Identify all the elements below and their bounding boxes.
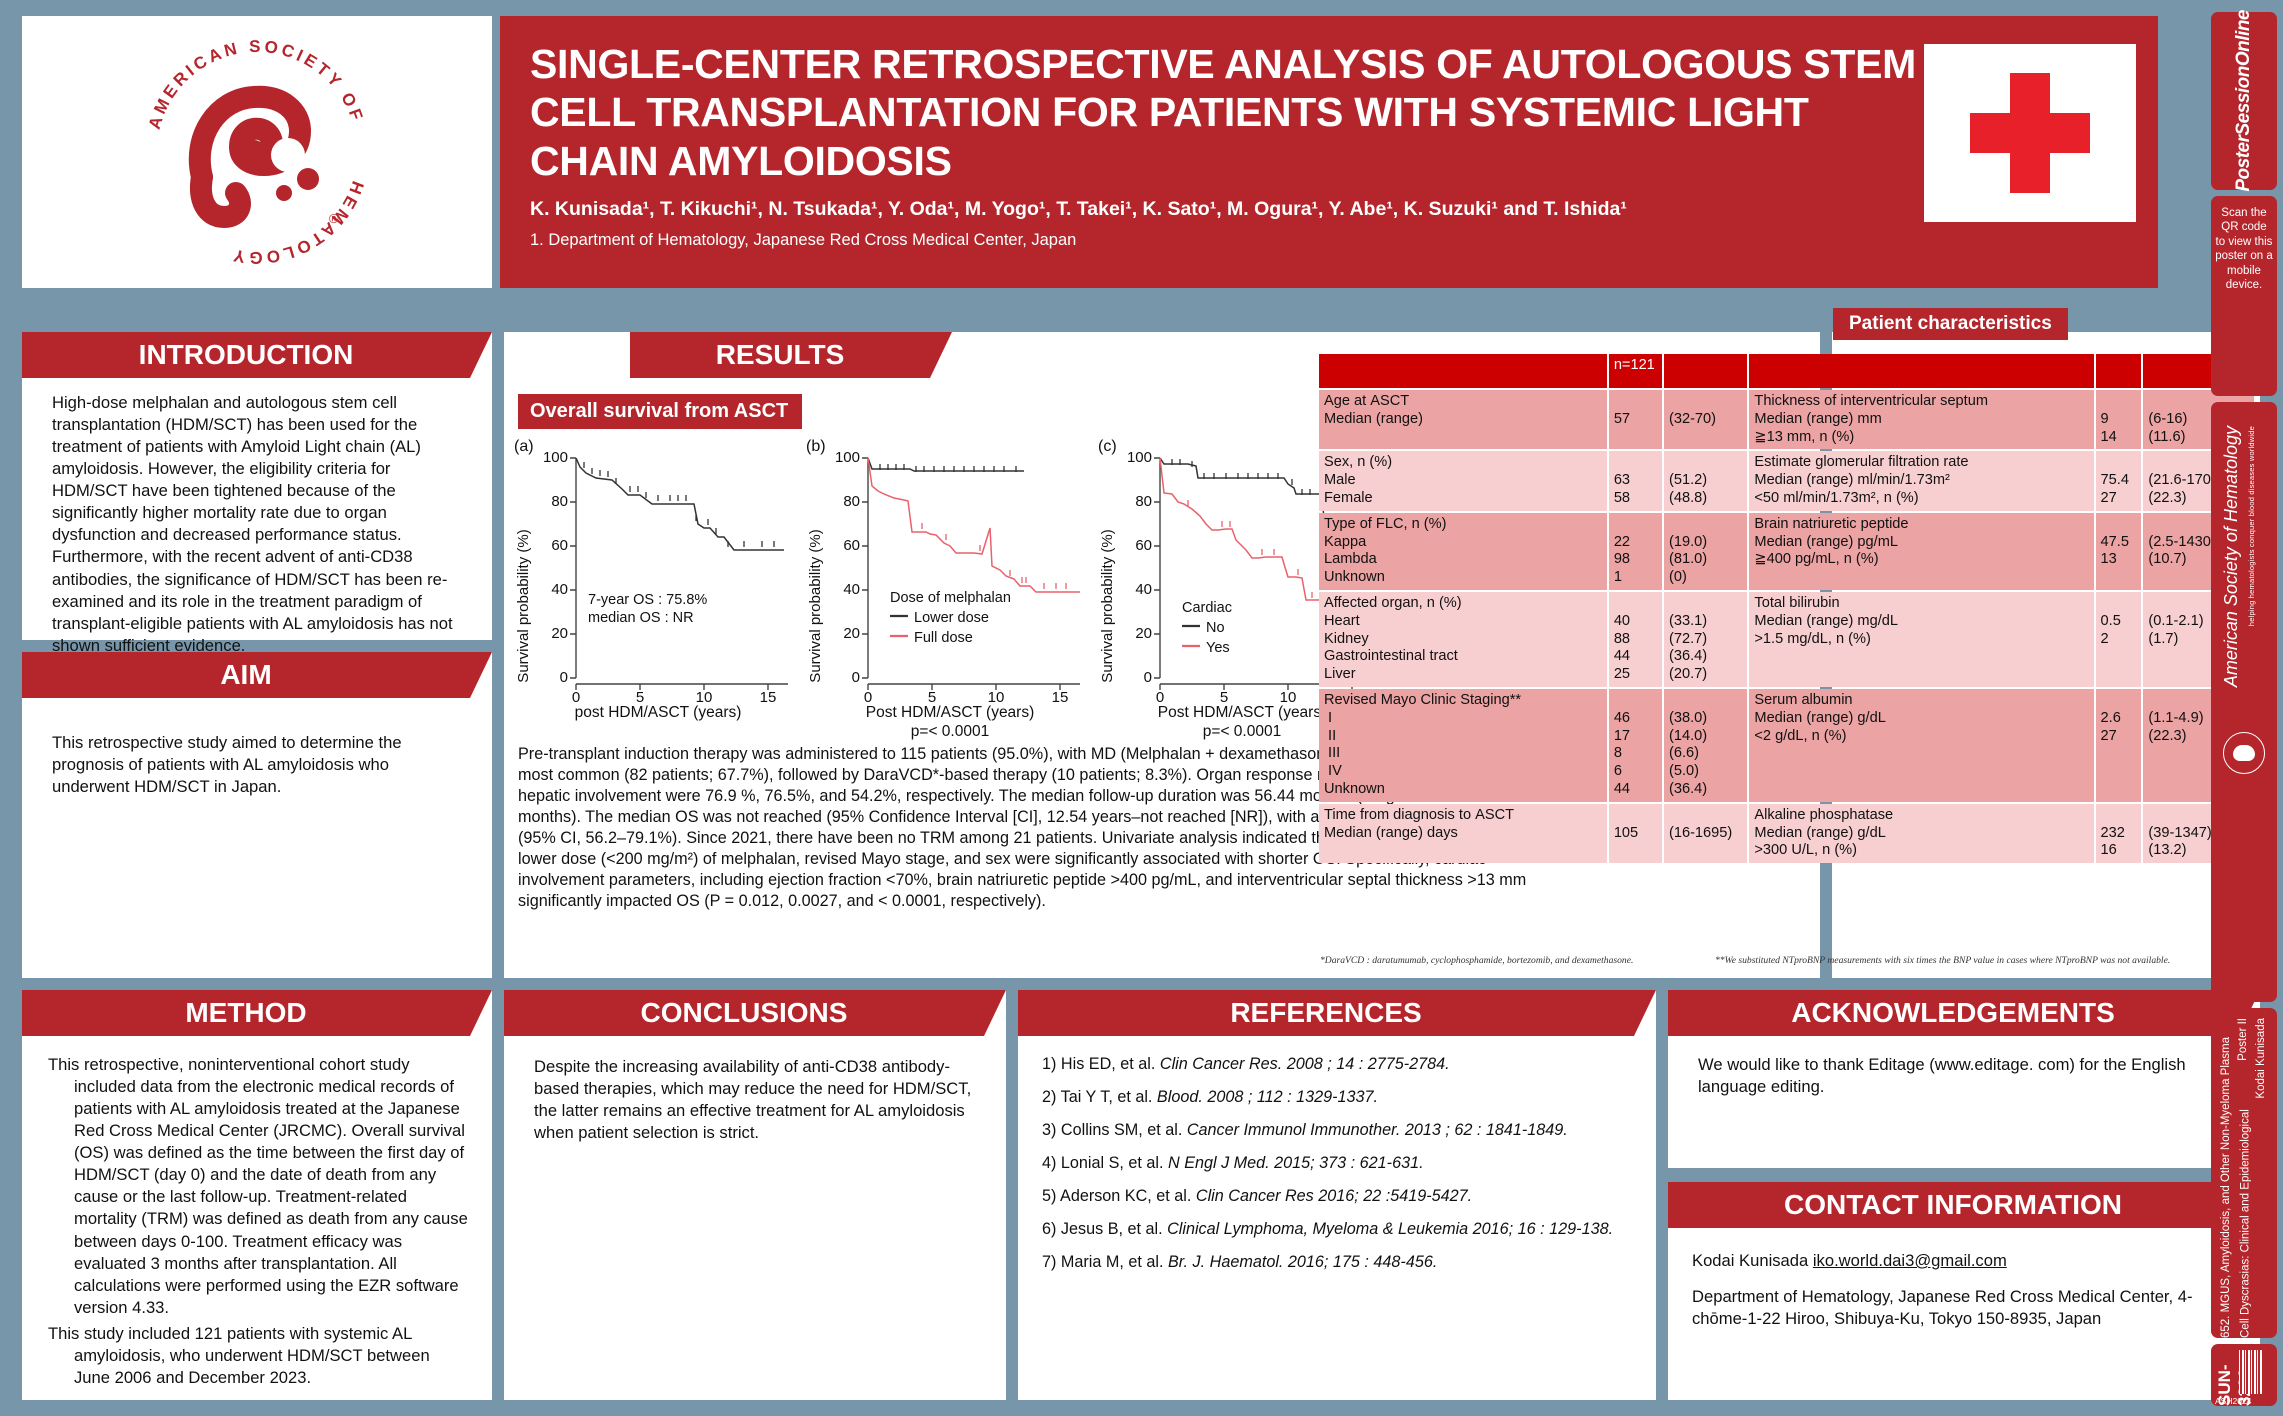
table-cell-value: 105 — [1609, 804, 1662, 863]
red-cross-logo-box — [1924, 44, 2136, 222]
reference-number: 4) — [1042, 1154, 1056, 1172]
ash-logo-svg: AMERICAN SOCIETY OF HEMATOLOGY ® — [132, 27, 382, 277]
reference-number: 2) — [1042, 1088, 1056, 1106]
table-cell-value: 40884425 — [1609, 592, 1662, 687]
chart-a-annotation-2: median OS : NR — [588, 610, 694, 626]
table-cell-label: Estimate glomerular filtration rateMedia… — [1749, 451, 2093, 510]
page-title: SINGLE-CENTER RETROSPECTIVE ANALYSIS OF … — [530, 40, 1930, 185]
table-cell-value: 0.52 — [2096, 592, 2142, 687]
title-bar: SINGLE-CENTER RETROSPECTIVE ANALYSIS OF … — [500, 16, 2158, 288]
table-cell-percent: (19.0)(81.0)(0) — [1664, 513, 1747, 590]
chart-b-xlabel: Post HDM/ASCT (years) — [804, 704, 1096, 722]
patient-characteristics-table: n=121 Age at ASCTMedian (range) 57 (32-7… — [1317, 352, 2256, 865]
red-cross-icon — [1970, 73, 2090, 193]
table-cell-label: Brain natriuretic peptideMedian (range) … — [1749, 513, 2093, 590]
session-title: 652. MGUS, Amyloidosis, and Other Non-My… — [2217, 1018, 2256, 1338]
km-chart-b: (b) Survival probability (%) 100 80 60 4… — [804, 436, 1096, 736]
poster-session-online-brand: PosterSessionOnline — [2233, 10, 2255, 192]
ash-society-logo: AMERICAN SOCIETY OF HEMATOLOGY ® — [132, 27, 382, 277]
table-cell-label: Total bilirubinMedian (range) mg/dL>1.5 … — [1749, 592, 2093, 687]
chart-a-xlabel: post HDM/ASCT (years) — [512, 704, 804, 722]
chart-c-panel-letter: (c) — [1098, 438, 1117, 456]
acknowledgements-text: We would like to thank Editage (www.edit… — [1668, 1036, 2260, 1108]
reference-item: 4) Lonial S, et al. N Engl J Med. 2015; … — [1042, 1153, 1634, 1174]
affiliation: 1. Department of Hematology, Japanese Re… — [530, 231, 2128, 250]
reference-citation: Br. J. Haematol. 2016; 175 : 448-456. — [1168, 1253, 1437, 1271]
chart-a-ytick-80: 80 — [551, 493, 568, 510]
table-cell-value: 57 — [1609, 390, 1662, 449]
poster-session-online-logo: PosterSessionOnline — [2211, 12, 2277, 190]
chart-a-ytick-20: 20 — [551, 625, 568, 642]
author-list: K. Kunisada¹, T. Kikuchi¹, N. Tsukada¹, … — [530, 197, 2128, 222]
chart-c-ytick-20: 20 — [1135, 625, 1152, 642]
svg-text:®: ® — [329, 211, 339, 226]
contact-name: Kodai Kunisada — [1692, 1251, 1813, 1270]
chart-b-legend-title: Dose of melphalan — [890, 590, 1011, 606]
reference-item: 3) Collins SM, et al. Cancer Immunol Imm… — [1042, 1120, 1634, 1141]
ash-society-name: American Society of Hematology — [2221, 426, 2242, 687]
table-row: Sex, n (%)MaleFemale 6358 (51.2)(48.8)Es… — [1319, 451, 2254, 510]
table-cell-value: 914 — [2096, 390, 2142, 449]
reference-authors: Jesus B, et al. — [1061, 1220, 1163, 1238]
table-cell-label: Time from diagnosis to ASCTMedian (range… — [1319, 804, 1607, 863]
chart-b-ytick-40: 40 — [843, 581, 860, 598]
right-sidebar: PosterSessionOnline Scan the QR code to … — [2211, 8, 2277, 1408]
aim-text: This retrospective study aimed to determ… — [22, 698, 492, 808]
table-cell-percent: (33.1)(72.7)(36.4)(20.7) — [1664, 592, 1747, 687]
chart-c-legend-yes: Yes — [1206, 640, 1230, 656]
chart-a-panel-letter: (a) — [514, 438, 534, 456]
references-panel: REFERENCES 1) His ED, et al. Clin Cancer… — [1018, 990, 1656, 1400]
contact-panel: CONTACT INFORMATION Kodai Kunisada iko.w… — [1668, 1182, 2260, 1400]
table-cell-label: Age at ASCTMedian (range) — [1319, 390, 1607, 449]
reference-citation: Clin Cancer Res 2016; 22 :5419-5427. — [1196, 1187, 1472, 1205]
chart-c-ylabel: Survival probability (%) — [1099, 529, 1116, 682]
table-cell-label: Serum albuminMedian (range) g/dL<2 g/dL,… — [1749, 689, 2093, 802]
reference-authors: His ED, et al. — [1061, 1055, 1155, 1073]
chart-c-ytick-80: 80 — [1135, 493, 1152, 510]
reference-authors: Maria M, et al. — [1061, 1253, 1164, 1271]
conclusions-panel: CONCLUSIONS Despite the increasing avail… — [504, 990, 1006, 1400]
reference-number: 6) — [1042, 1220, 1056, 1238]
references-heading: REFERENCES — [1018, 990, 1634, 1036]
chart-a-annotation-1: 7-year OS : 75.8% — [588, 592, 707, 608]
chart-a-ytick-40: 40 — [551, 581, 568, 598]
reference-authors: Tai Y T, et al. — [1061, 1088, 1153, 1106]
reference-authors: Aderson KC, et al. — [1060, 1187, 1191, 1205]
reference-citation: Clin Cancer Res. 2008 ; 14 : 2775-2784. — [1160, 1055, 1450, 1073]
results-heading: RESULTS — [630, 332, 930, 378]
chart-b-legend-lower-dose: Lower dose — [914, 610, 989, 626]
poster-session-online-card[interactable]: PosterSessionOnline — [2211, 12, 2277, 190]
table-cell-percent: (38.0)(14.0)(6.6)(5.0)(36.4) — [1664, 689, 1747, 802]
chart-c-legend-title: Cardiac — [1182, 600, 1232, 616]
chart-a-ylabel: Survival probability (%) — [515, 529, 532, 682]
contact-body: Kodai Kunisada iko.world.dai3@gmail.com … — [1668, 1228, 2260, 1330]
contact-address: Department of Hematology, Japanese Red C… — [1692, 1286, 2236, 1330]
barcode-image — [2239, 1350, 2263, 1394]
abstract-code-card: SUN-3292 ASH2024 — [2211, 1344, 2277, 1406]
chart-b-ytick-20: 20 — [843, 625, 860, 642]
reference-item: 2) Tai Y T, et al. Blood. 2008 ; 112 : 1… — [1042, 1087, 1634, 1108]
table-cell-value: 2.627 — [2096, 689, 2142, 802]
table-row: Revised Mayo Clinic Staging** I II III I… — [1319, 689, 2254, 802]
scan-qr-card: Scan the QR code to view this poster on … — [2211, 196, 2277, 396]
km-chart-a: (a) Survival probability (%) 100 80 60 4… — [512, 436, 804, 736]
method-text: This retrospective, noninterventional co… — [22, 1036, 492, 1399]
reference-number: 1) — [1042, 1055, 1056, 1073]
ash-logo-box: AMERICAN SOCIETY OF HEMATOLOGY ® — [22, 16, 492, 288]
chart-c-ytick-100: 100 — [1127, 449, 1152, 466]
aim-panel: AIM This retrospective study aimed to de… — [22, 652, 492, 978]
table-cell-value: 46178644 — [1609, 689, 1662, 802]
chart-a-ytick-100: 100 — [543, 449, 568, 466]
chart-a-series-overall — [576, 458, 784, 550]
patient-characteristics-title: Patient characteristics — [1833, 308, 2068, 340]
table-header-row: n=121 — [1319, 354, 2254, 388]
meeting-label: ASH2024 — [2215, 1396, 2251, 1406]
table-cell-value: 23216 — [2096, 804, 2142, 863]
table-row: Time from diagnosis to ASCTMedian (range… — [1319, 804, 2254, 863]
table-cell-label: Sex, n (%)MaleFemale — [1319, 451, 1607, 510]
chart-b-pvalue: p=< 0.0001 — [804, 723, 1096, 741]
reference-citation: Clinical Lymphoma, Myeloma & Leukemia 20… — [1167, 1220, 1613, 1238]
header-cell-blank-right — [1749, 354, 2093, 388]
ash-mark-icon — [2223, 732, 2265, 774]
presenter-name: Kodai Kunisada — [2255, 1018, 2267, 1099]
svg-text:HEMATOLOGY: HEMATOLOGY — [229, 179, 368, 268]
scan-instructions: Scan the QR code to view this poster on … — [2211, 196, 2277, 302]
contact-email[interactable]: iko.world.dai3@gmail.com — [1813, 1251, 2007, 1270]
table-footnote-left: *DaraVCD : daratumumab, cyclophosphamide… — [1320, 955, 1633, 966]
references-list: 1) His ED, et al. Clin Cancer Res. 2008 … — [1018, 1036, 1656, 1273]
method-paragraph-2: This study included 121 patients with sy… — [48, 1323, 470, 1389]
chart-b-legend-full-dose: Full dose — [914, 630, 973, 646]
method-panel: METHOD This retrospective, noninterventi… — [22, 990, 492, 1400]
table-row: Age at ASCTMedian (range) 57 (32-70)Thic… — [1319, 390, 2254, 449]
table-cell-label: Affected organ, n (%)HeartKidneyGastroin… — [1319, 592, 1607, 687]
ash-society-card: American Society of Hematology helping h… — [2211, 402, 2277, 1002]
patient-characteristics-tbody: n=121 Age at ASCTMedian (range) 57 (32-7… — [1319, 354, 2254, 863]
chart-a-ytick-0: 0 — [560, 669, 568, 686]
table-cell-percent: (32-70) — [1664, 390, 1747, 449]
table-cell-label: Type of FLC, n (%)KappaLambdaUnknown — [1319, 513, 1607, 590]
poster-number: Poster II — [2237, 1018, 2249, 1061]
svg-text:AMERICAN SOCIETY OF: AMERICAN SOCIETY OF — [145, 37, 368, 131]
chart-b-series-lower-dose — [868, 458, 1024, 471]
table-cell-label: Alkaline phosphataseMedian (range) g/dL>… — [1749, 804, 2093, 863]
chart-b-ytick-80: 80 — [843, 493, 860, 510]
table-cell-label: Thickness of interventricular septumMedi… — [1749, 390, 2093, 449]
table-row: Type of FLC, n (%)KappaLambdaUnknown 229… — [1319, 513, 2254, 590]
table-cell-percent: (16-1695) — [1664, 804, 1747, 863]
conclusions-heading: CONCLUSIONS — [504, 990, 984, 1036]
header-cell-n: n=121 — [1609, 354, 1662, 388]
method-paragraph-1: This retrospective, noninterventional co… — [48, 1054, 470, 1319]
reference-citation: Cancer Immunol Immunother. 2013 ; 62 : 1… — [1187, 1121, 1568, 1139]
contact-heading: CONTACT INFORMATION — [1668, 1182, 2238, 1228]
contact-name-line: Kodai Kunisada iko.world.dai3@gmail.com — [1692, 1250, 2236, 1272]
ash-society-tagline: helping hematologists conquer blood dise… — [2247, 426, 2256, 626]
chart-b-ytick-60: 60 — [843, 537, 860, 554]
introduction-panel: INTRODUCTION High-dose melphalan and aut… — [22, 332, 492, 640]
reference-number: 3) — [1042, 1121, 1056, 1139]
reference-number: 5) — [1042, 1187, 1056, 1205]
chart-b-series-full-dose — [868, 458, 1080, 592]
reference-number: 7) — [1042, 1253, 1056, 1271]
introduction-heading: INTRODUCTION — [22, 332, 470, 378]
chart-c-legend-no: No — [1206, 620, 1225, 636]
reference-item: 6) Jesus B, et al. Clinical Lymphoma, My… — [1042, 1219, 1634, 1240]
introduction-text: High-dose melphalan and autologous stem … — [22, 378, 492, 667]
chart-a-ytick-60: 60 — [551, 537, 568, 554]
aim-heading: AIM — [22, 652, 470, 698]
table-cell-percent: (51.2)(48.8) — [1664, 451, 1747, 510]
header-cell-pct-left — [1664, 354, 1747, 388]
reference-authors: Collins SM, et al. — [1061, 1121, 1182, 1139]
reference-item: 7) Maria M, et al. Br. J. Haematol. 2016… — [1042, 1252, 1634, 1273]
table-cell-value: 75.427 — [2096, 451, 2142, 510]
chart-b-ytick-0: 0 — [852, 669, 860, 686]
results-subheading: Overall survival from ASCT — [518, 394, 802, 429]
chart-a-svg: Survival probability (%) 100 80 60 40 20… — [512, 436, 804, 708]
table-footnote-right: **We substituted NTproBNP measurements w… — [1715, 955, 2170, 966]
table-row: Affected organ, n (%)HeartKidneyGastroin… — [1319, 592, 2254, 687]
reference-item: 5) Aderson KC, et al. Clin Cancer Res 20… — [1042, 1186, 1634, 1207]
acknowledgements-panel: ACKNOWLEDGEMENTS We would like to thank … — [1668, 990, 2260, 1168]
reference-citation: N Engl J Med. 2015; 373 : 621-631. — [1168, 1154, 1424, 1172]
chart-b-svg: Survival probability (%) 100 80 60 40 20… — [804, 436, 1096, 708]
table-cell-value: 6358 — [1609, 451, 1662, 510]
reference-citation: Blood. 2008 ; 112 : 1329-1337. — [1157, 1088, 1378, 1106]
reference-authors: Lonial S, et al. — [1061, 1154, 1164, 1172]
acknowledgements-heading: ACKNOWLEDGEMENTS — [1668, 990, 2238, 1036]
table-cell-label: Revised Mayo Clinic Staging** I II III I… — [1319, 689, 1607, 802]
chart-b-ytick-100: 100 — [835, 449, 860, 466]
session-info-card: 652. MGUS, Amyloidosis, and Other Non-My… — [2211, 1008, 2277, 1338]
table-cell-value: 47.513 — [2096, 513, 2142, 590]
table-cell-value: 22981 — [1609, 513, 1662, 590]
chart-c-ytick-0: 0 — [1144, 669, 1152, 686]
header-cell-blank-left — [1319, 354, 1607, 388]
method-heading: METHOD — [22, 990, 470, 1036]
header-cell-n-right — [2096, 354, 2142, 388]
chart-b-ylabel: Survival probability (%) — [807, 529, 824, 682]
reference-item: 1) His ED, et al. Clin Cancer Res. 2008 … — [1042, 1054, 1634, 1075]
chart-c-ytick-40: 40 — [1135, 581, 1152, 598]
conclusions-text: Despite the increasing availability of a… — [504, 1036, 1006, 1154]
chart-c-ytick-60: 60 — [1135, 537, 1152, 554]
poster-root: AMERICAN SOCIETY OF HEMATOLOGY ® SINGLE-… — [0, 0, 2283, 1416]
chart-b-panel-letter: (b) — [806, 438, 826, 456]
